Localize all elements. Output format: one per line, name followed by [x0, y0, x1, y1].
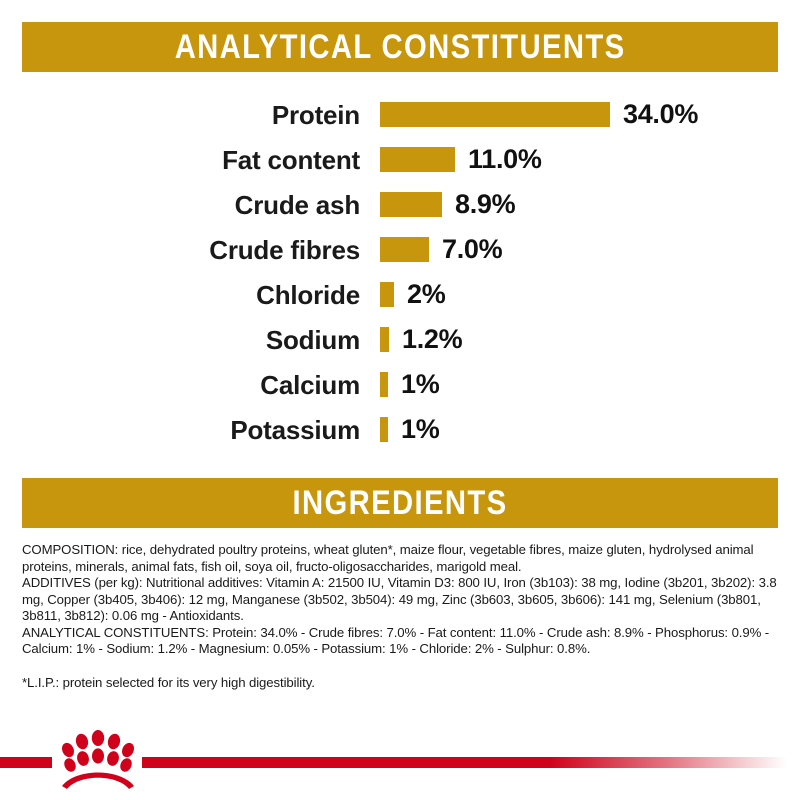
lip-footnote: *L.I.P.: protein selected for its very h…	[22, 675, 782, 692]
chart-bar	[380, 282, 394, 307]
chart-row-label: Calcium	[0, 372, 380, 398]
chart-bar-group: 8.9%	[380, 191, 800, 218]
chart-row-value: 1.2%	[402, 326, 462, 353]
royal-canin-crown-icon	[52, 728, 144, 794]
chart-bar	[380, 102, 610, 127]
chart-bar	[380, 372, 388, 397]
chart-row-value: 11.0%	[468, 146, 542, 173]
chart-row-value: 1%	[401, 416, 439, 443]
chart-bar-group: 1%	[380, 416, 800, 443]
composition-text: COMPOSITION: rice, dehydrated poultry pr…	[22, 542, 782, 575]
additives-text: ADDITIVES (per kg): Nutritional additive…	[22, 575, 782, 625]
ingredients-body: COMPOSITION: rice, dehydrated poultry pr…	[22, 542, 782, 691]
chart-row-label: Chloride	[0, 282, 380, 308]
product-nutrition-panel: ANALYTICAL CONSTITUENTS Protein 34.0% Fa…	[0, 0, 800, 800]
brand-footer	[0, 720, 800, 800]
chart-bar-group: 1.2%	[380, 326, 800, 353]
chart-row-value: 1%	[401, 371, 439, 398]
chart-row: Crude ash 8.9%	[0, 182, 800, 227]
chart-bar	[380, 417, 388, 442]
chart-bar-group: 7.0%	[380, 236, 800, 263]
chart-bar-group: 2%	[380, 281, 800, 308]
ingredients-title: INGREDIENTS	[293, 486, 508, 520]
chart-row-label: Fat content	[0, 147, 380, 173]
chart-bar-group: 1%	[380, 371, 800, 398]
chart-row: Potassium 1%	[0, 407, 800, 452]
chart-row-value: 7.0%	[442, 236, 502, 263]
analytical-constituents-chart: Protein 34.0% Fat content 11.0% Crude as…	[0, 92, 800, 452]
brand-rule-left	[0, 757, 52, 768]
chart-row-label: Sodium	[0, 327, 380, 353]
chart-row-value: 34.0%	[623, 101, 698, 128]
chart-row: Sodium 1.2%	[0, 317, 800, 362]
chart-row: Chloride 2%	[0, 272, 800, 317]
chart-row: Protein 34.0%	[0, 92, 800, 137]
chart-bar	[380, 237, 429, 262]
chart-row-label: Protein	[0, 102, 380, 128]
analytical-constituents-title: ANALYTICAL CONSTITUENTS	[175, 30, 626, 64]
chart-bar-group: 11.0%	[380, 146, 800, 173]
chart-row: Calcium 1%	[0, 362, 800, 407]
analytical-constituents-header: ANALYTICAL CONSTITUENTS	[22, 22, 778, 72]
ingredients-header: INGREDIENTS	[22, 478, 778, 528]
chart-bar	[380, 327, 389, 352]
chart-bar-group: 34.0%	[380, 101, 800, 128]
chart-bar	[380, 192, 442, 217]
chart-row: Fat content 11.0%	[0, 137, 800, 182]
chart-row-value: 8.9%	[455, 191, 515, 218]
chart-row-label: Crude fibres	[0, 237, 380, 263]
chart-row-value: 2%	[407, 281, 445, 308]
chart-row-label: Crude ash	[0, 192, 380, 218]
chart-row: Crude fibres 7.0%	[0, 227, 800, 272]
chart-bar	[380, 147, 455, 172]
brand-rule-right	[142, 757, 800, 768]
analytical-constituents-text: ANALYTICAL CONSTITUENTS: Protein: 34.0% …	[22, 625, 782, 658]
chart-row-label: Potassium	[0, 417, 380, 443]
